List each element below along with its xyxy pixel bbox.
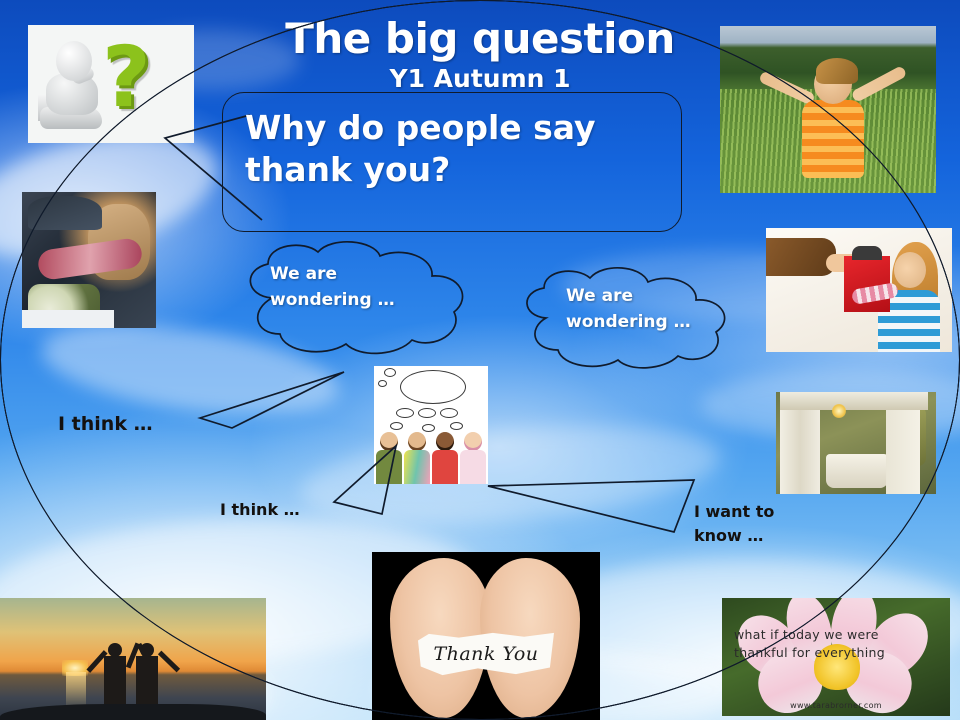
lotus-credit: www.tarabrorner.com (722, 701, 950, 710)
speech-oval-3 (0, 244, 178, 380)
speech-oval-3-text: I want to know … (694, 500, 774, 548)
slide-canvas: The big question Y1 Autumn 1 ? (0, 0, 960, 720)
thinking-figure-graphic (42, 39, 106, 131)
